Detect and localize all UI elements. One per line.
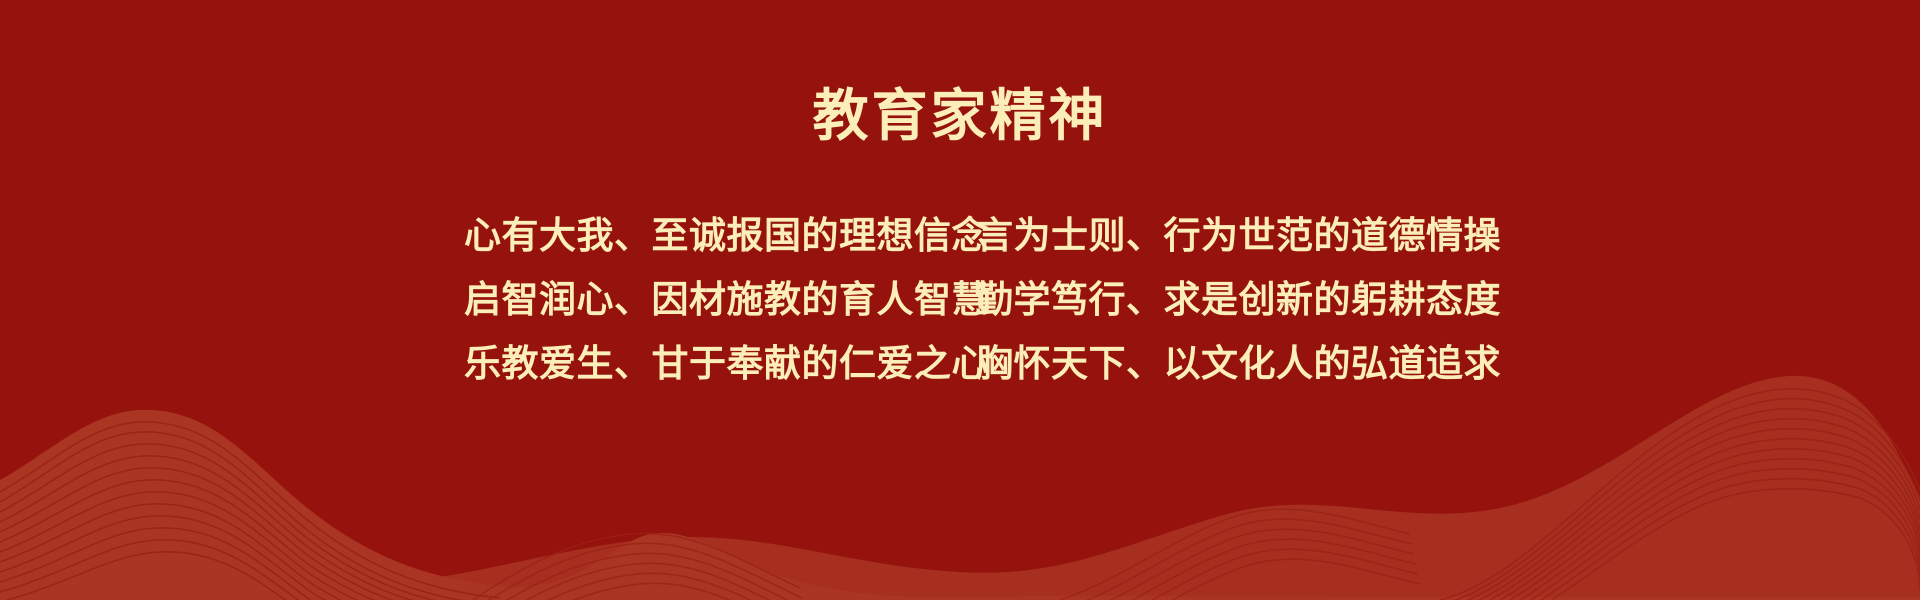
tenet-row: 心有大我、至诚报国的理想信念 言为士则、行为世范的道德情操 xyxy=(0,212,1920,276)
tenet-item: 言为士则、行为世范的道德情操 xyxy=(976,212,1456,262)
educator-spirit-banner: 教育家精神 心有大我、至诚报国的理想信念 言为士则、行为世范的道德情操 启智润心… xyxy=(0,0,1920,600)
tenet-item: 勤学笃行、求是创新的躬耕态度 xyxy=(976,276,1456,326)
tenet-item: 启智润心、因材施教的育人智慧 xyxy=(464,276,944,326)
tenet-item: 胸怀天下、以文化人的弘道追求 xyxy=(976,340,1456,390)
tenet-row: 启智润心、因材施教的育人智慧 勤学笃行、求是创新的躬耕态度 xyxy=(0,276,1920,340)
page-title: 教育家精神 xyxy=(0,84,1920,150)
banner-content: 教育家精神 心有大我、至诚报国的理想信念 言为士则、行为世范的道德情操 启智润心… xyxy=(0,0,1920,600)
tenet-item: 乐教爱生、甘于奉献的仁爱之心 xyxy=(464,340,944,390)
tenet-row: 乐教爱生、甘于奉献的仁爱之心 胸怀天下、以文化人的弘道追求 xyxy=(0,340,1920,404)
tenet-item: 心有大我、至诚报国的理想信念 xyxy=(464,212,944,262)
tenets-grid: 心有大我、至诚报国的理想信念 言为士则、行为世范的道德情操 启智润心、因材施教的… xyxy=(0,212,1920,404)
